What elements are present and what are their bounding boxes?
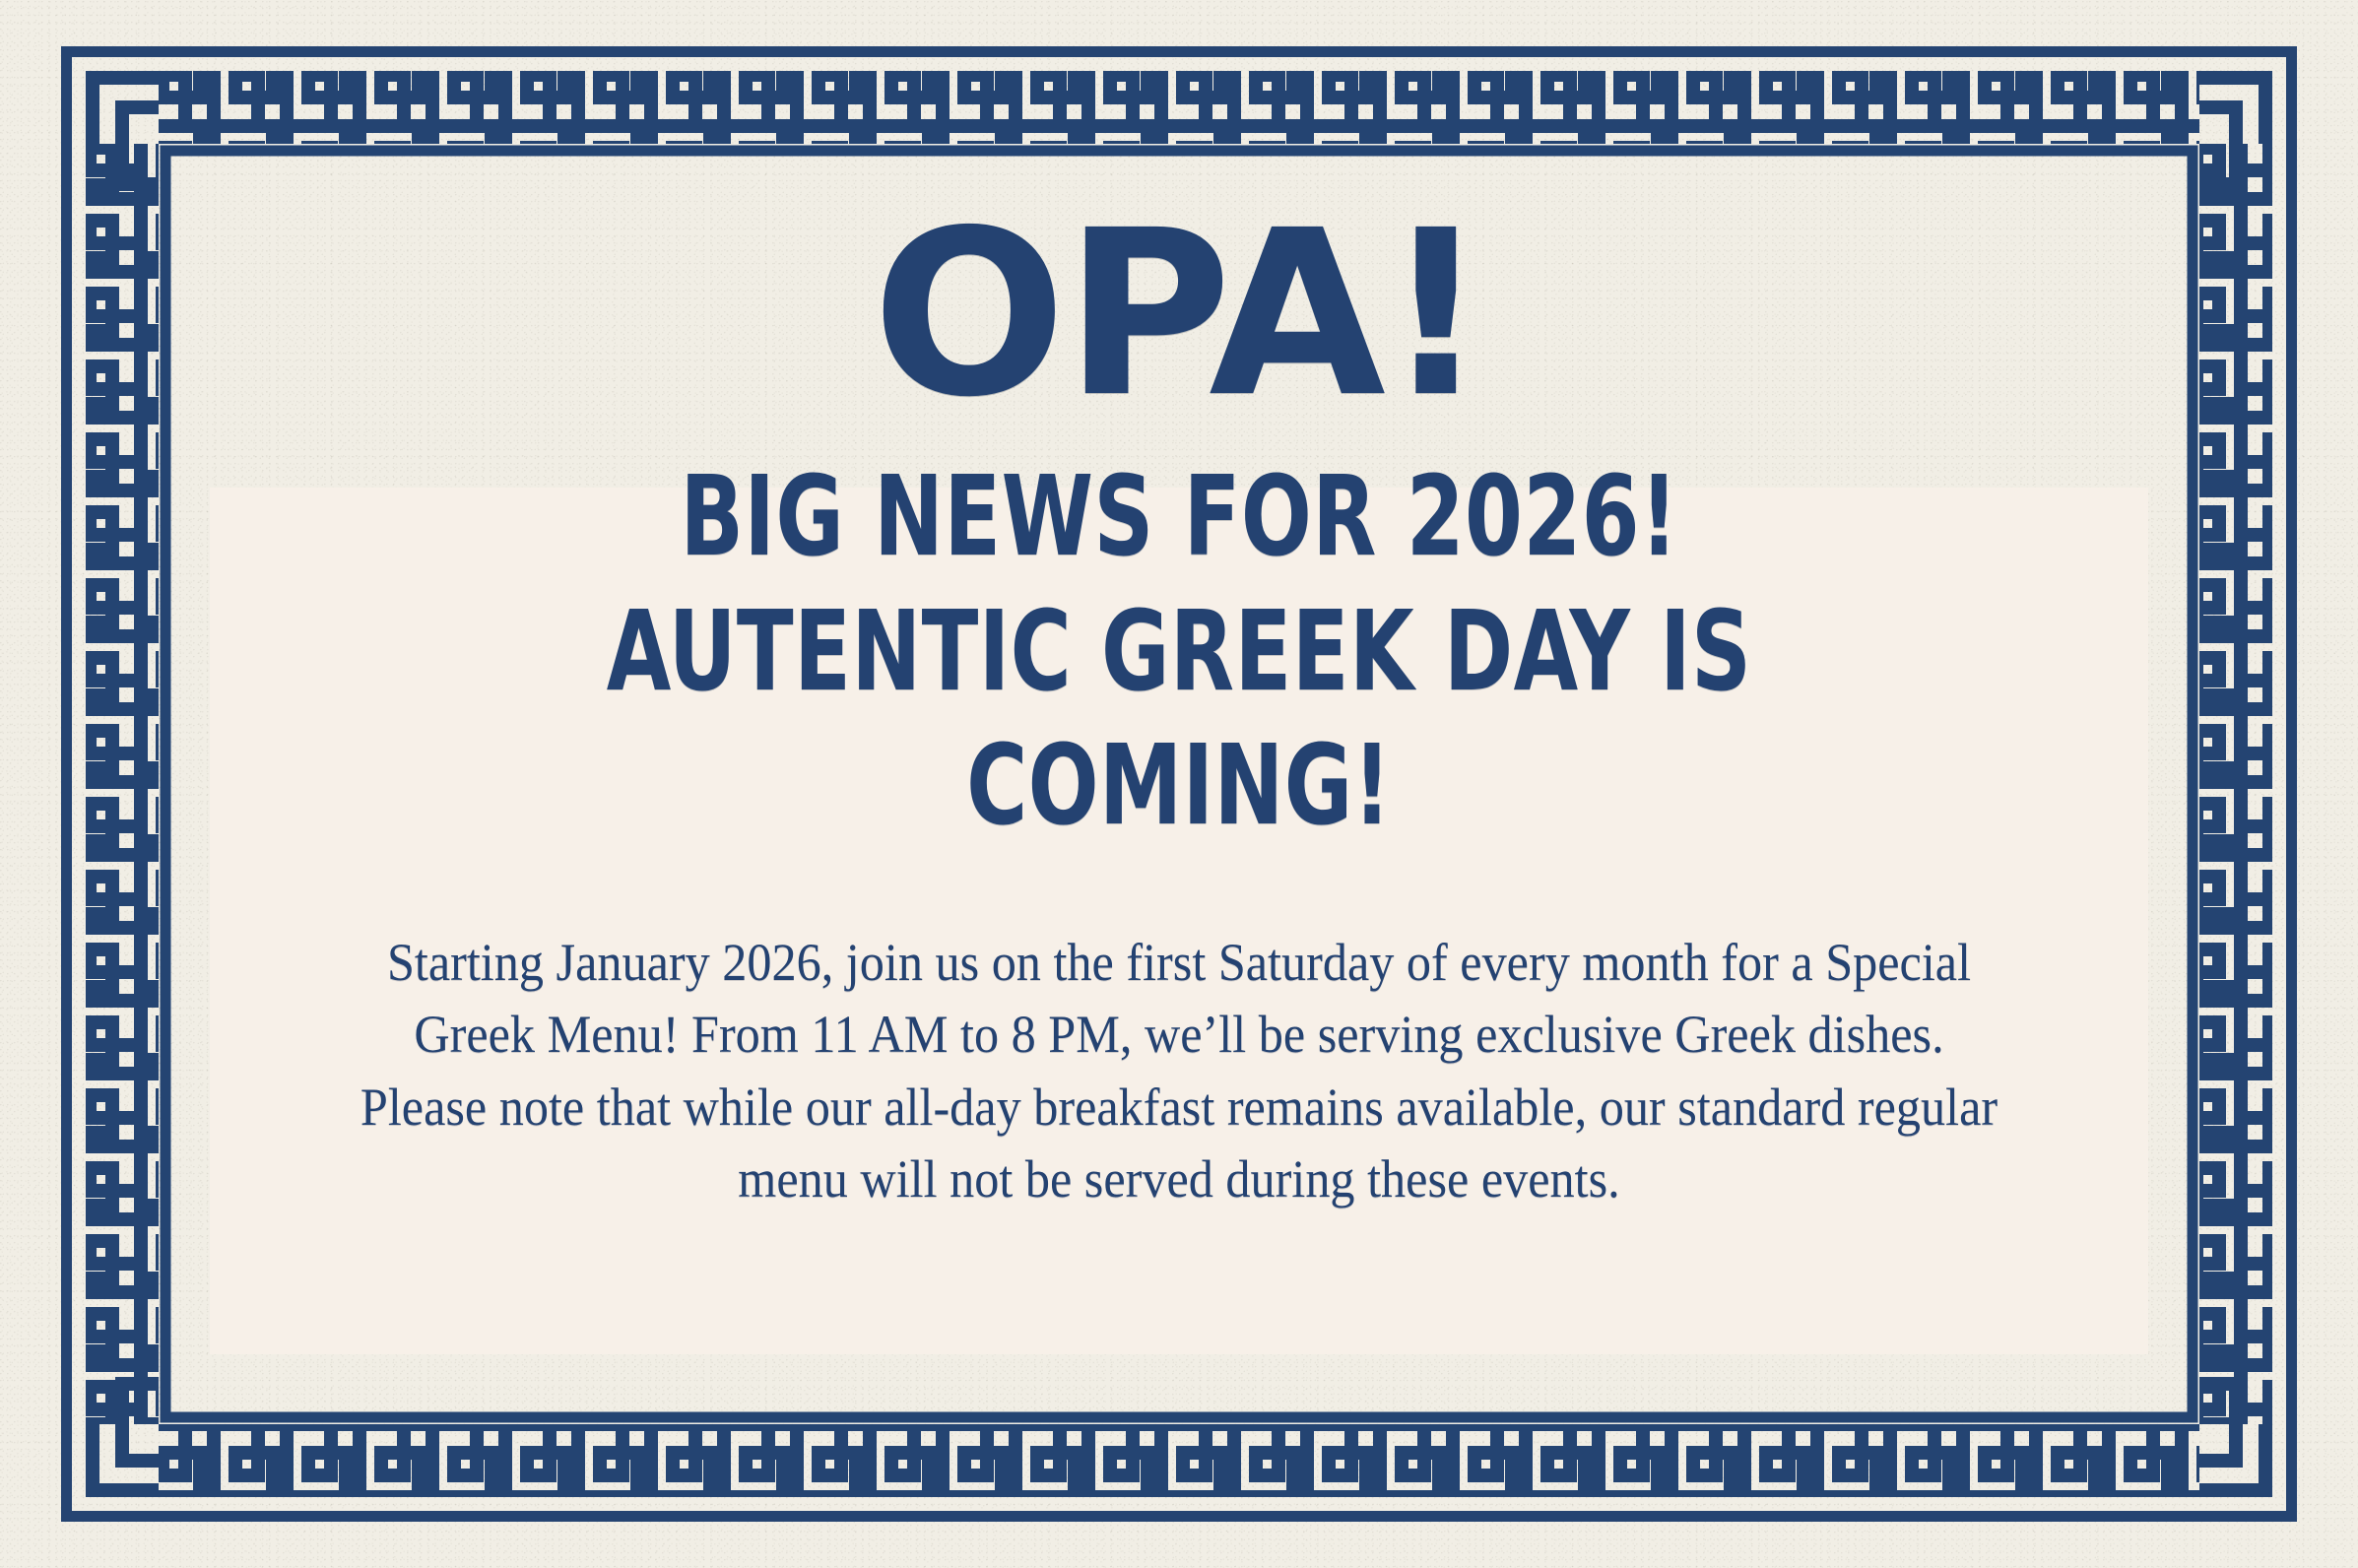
subheading-line-1: BIG NEWS FOR 2026! xyxy=(680,450,1677,585)
page-title: OPA! xyxy=(872,200,1485,428)
poster-content-panel: OPA! BIG NEWS FOR 2026! AUTENTIC GREEK D… xyxy=(210,193,2148,1375)
meander-bottom-run xyxy=(159,1424,2199,1497)
greek-day-poster: OPA! BIG NEWS FOR 2026! AUTENTIC GREEK D… xyxy=(0,0,2358,1568)
subheading-line-3: COMING! xyxy=(966,719,1392,854)
meander-top-run xyxy=(159,71,2199,144)
body-paragraph: Starting January 2026, join us on the fi… xyxy=(346,927,2013,1216)
meander-right-run xyxy=(2199,144,2272,1424)
meander-left-run xyxy=(86,144,159,1424)
subheading-line-2: AUTENTIC GREEK DAY IS xyxy=(607,585,1752,720)
